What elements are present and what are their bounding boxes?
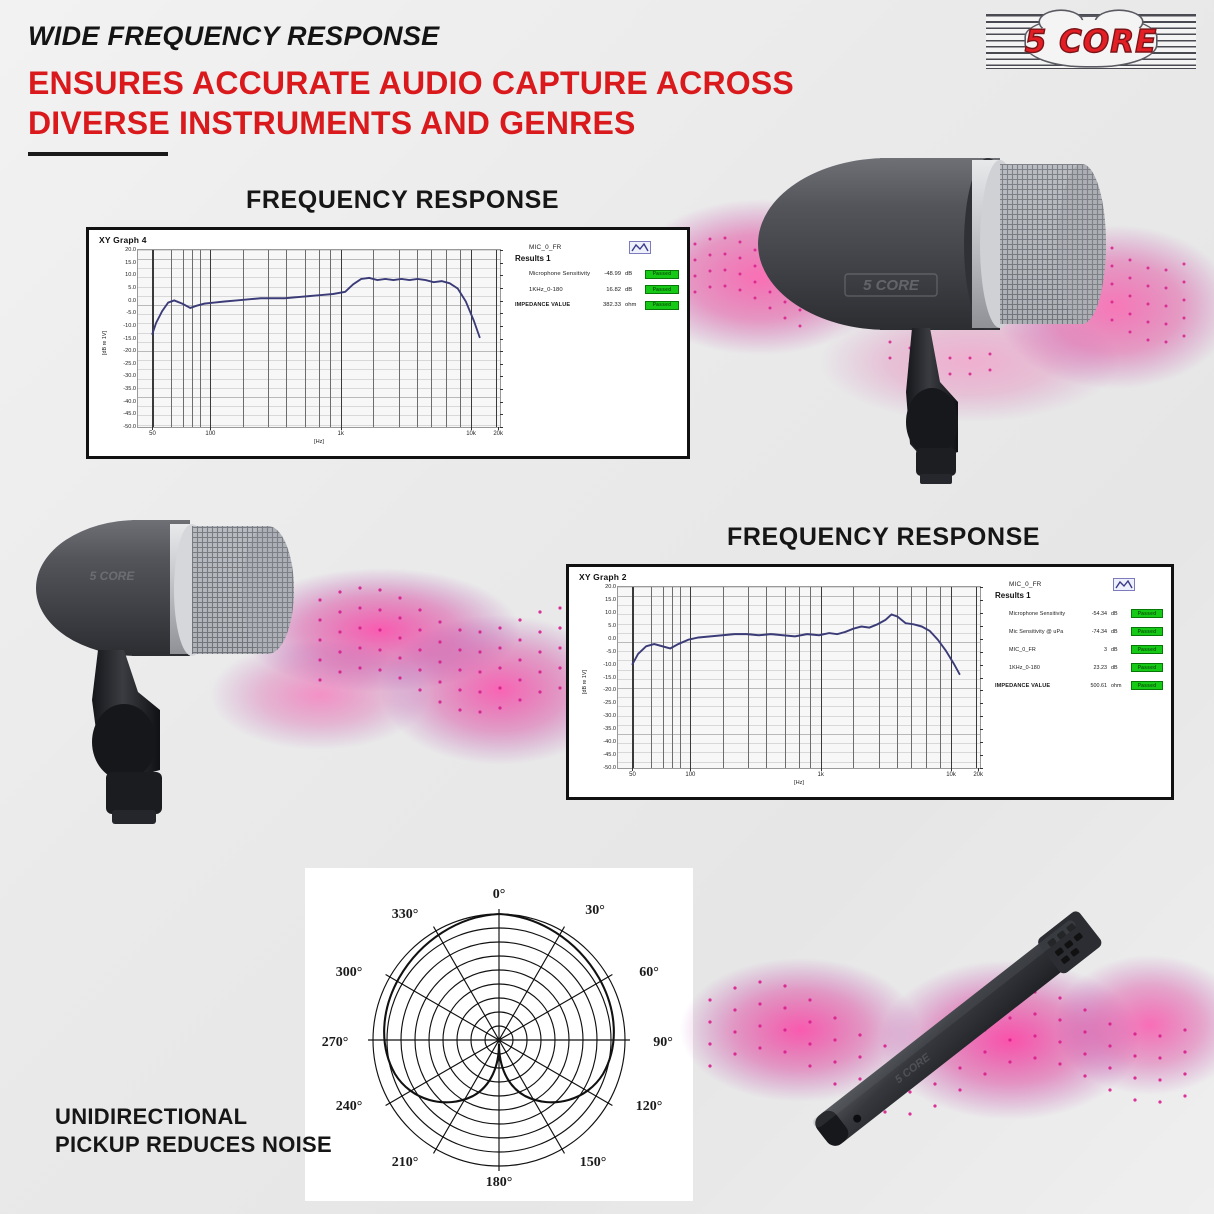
y-tick-1-10: -30.0 (123, 373, 136, 379)
waveform-icon (1113, 578, 1135, 591)
result-row: IMPEDANCE VALUE 500.61 ohm Passed (995, 681, 1163, 690)
drum-microphone-image-top: 5 CORE (640, 92, 1214, 502)
section-heading-frequency-response-2: FREQUENCY RESPONSE (727, 523, 1040, 552)
result-label: MIC_0_FR (995, 647, 1077, 653)
y-tick-2-8: -20.0 (603, 687, 616, 693)
status-badge: Passed (1131, 645, 1163, 654)
result-unit: dB (1107, 629, 1131, 635)
polar-label-0: 0° (493, 887, 506, 902)
y-tick-1-5: -5.0 (126, 310, 136, 316)
chart-plot-area-1: XY Graph 4 [dB re 1V] (89, 230, 509, 456)
embossed-brand-logo: 5 CORE (90, 569, 136, 583)
y-tick-2-5: -5.0 (606, 649, 616, 655)
polar-label-30: 30° (585, 903, 605, 918)
chart-title-1: XY Graph 4 (99, 235, 147, 245)
y-tick-1-12: -40.0 (123, 399, 136, 405)
y-axis-title-1: [dB re 1V] (102, 331, 108, 355)
x-axis-title-2: [Hz] (794, 780, 804, 786)
x-tick-2-1: 100 (685, 772, 695, 778)
results-panel-2: MIC_0_FR Results 1 Microphone Sensitivit… (989, 567, 1171, 797)
result-unit: dB (621, 271, 645, 277)
waveform-icon (629, 241, 651, 254)
frequency-trace-1 (138, 250, 500, 427)
polar-label-60: 60° (639, 965, 659, 980)
status-badge: Passed (645, 301, 679, 310)
result-value: 500.61 (1077, 683, 1107, 689)
x-tick-1-1: 100 (205, 431, 215, 437)
result-value: -74.34 (1077, 629, 1107, 635)
result-unit: ohm (1107, 683, 1131, 689)
y-tick-1-7: -15.0 (123, 336, 136, 342)
result-label: Microphone Sensitivity (515, 271, 591, 277)
y-tick-1-2: 10.0 (125, 272, 136, 278)
drum-microphone-image-left: 5 CORE (20, 480, 620, 870)
pencil-condenser-microphone-image: 5 CORE (680, 860, 1214, 1214)
result-label: Mic Sensitivity @ uPa (995, 629, 1077, 635)
result-value: 23.23 (1077, 665, 1107, 671)
x-tick-2-2: 1k (818, 772, 824, 778)
y-tick-1-9: -25.0 (123, 361, 136, 367)
y-tick-2-4: 0.0 (608, 636, 616, 642)
result-unit: dB (1107, 665, 1131, 671)
result-label: IMPEDANCE VALUE (515, 302, 591, 308)
svg-text:5 CORE: 5 CORE (90, 569, 136, 583)
result-unit: dB (1107, 647, 1131, 653)
logo-text: 5 CORE (986, 14, 1196, 69)
y-tick-2-10: -30.0 (603, 713, 616, 719)
y-tick-1-3: 5.0 (128, 285, 136, 291)
result-row: 1KHz_0-180 23.23 dB Passed (995, 663, 1163, 672)
results-mic-label-2: MIC_0_FR (1009, 581, 1163, 588)
x-tick-2-0: 50 (629, 772, 636, 778)
y-tick-1-13: -45.0 (123, 411, 136, 417)
status-badge: Passed (1131, 681, 1163, 690)
caption-line-1: UNIDIRECTIONAL (55, 1103, 355, 1131)
frequency-trace-2 (618, 587, 980, 768)
result-unit: ohm (621, 302, 645, 308)
y-tick-2-0: 20.0 (605, 584, 616, 590)
result-row: Microphone Sensitivity -48.99 dB Passed (515, 270, 679, 279)
plot-2: 20.0 15.0 10.0 5.0 0.0 -5.0 -10.0 -15.0 … (617, 586, 981, 769)
header-underline-rule (28, 152, 168, 156)
result-value: -48.99 (591, 271, 621, 277)
polar-label-90: 90° (653, 1035, 673, 1050)
status-badge: Passed (1131, 627, 1163, 636)
x-tick-2-4: 20k (973, 772, 983, 778)
polar-label-300: 300° (336, 965, 363, 980)
plot-1: 20.0 15.0 10.0 5.0 0.0 -5.0 -10.0 -15.0 … (137, 249, 501, 428)
result-label: 1KHz_0-180 (995, 665, 1077, 671)
y-tick-1-8: -20.0 (123, 348, 136, 354)
result-value: 16.82 (591, 287, 621, 293)
results-title-2: Results 1 (995, 591, 1163, 600)
svg-text:5 CORE: 5 CORE (863, 277, 920, 294)
section-heading-frequency-response-1: FREQUENCY RESPONSE (246, 186, 559, 215)
y-tick-2-9: -25.0 (603, 700, 616, 706)
y-tick-1-4: 0.0 (128, 298, 136, 304)
result-value: -54.34 (1077, 611, 1107, 617)
y-tick-2-2: 10.0 (605, 610, 616, 616)
polar-label-330: 330° (392, 907, 419, 922)
results-mic-label-1: MIC_0_FR (529, 244, 679, 251)
results-title-1: Results 1 (515, 254, 679, 263)
result-row: MIC_0_FR 3 dB Passed (995, 645, 1163, 654)
polar-pattern-diagram: 0° 30° 60° 90° 120° 150° 180° 210° 240° … (305, 868, 693, 1201)
y-axis-title-2: [dB re 1V] (582, 670, 588, 694)
y-tick-2-11: -35.0 (603, 726, 616, 732)
kicker-text: WIDE FREQUENCY RESPONSE (28, 22, 888, 52)
y-tick-1-6: -10.0 (123, 323, 136, 329)
y-tick-2-7: -15.0 (603, 675, 616, 681)
y-tick-1-0: 20.0 (125, 247, 136, 253)
result-value: 382.33 (591, 302, 621, 308)
polar-label-120: 120° (636, 1099, 663, 1114)
frequency-response-chart-card-2: XY Graph 2 [dB re 1V] (566, 564, 1174, 800)
chart-title-2: XY Graph 2 (579, 572, 627, 582)
status-badge: Passed (645, 285, 679, 294)
x-axis-title-1: [Hz] (314, 439, 324, 445)
y-tick-2-13: -45.0 (603, 752, 616, 758)
x-tick-1-2: 1k (338, 431, 344, 437)
result-unit: dB (1107, 611, 1131, 617)
y-tick-1-1: 15.0 (125, 260, 136, 266)
y-tick-2-1: 15.0 (605, 597, 616, 603)
y-tick-2-3: 5.0 (608, 623, 616, 629)
status-badge: Passed (1131, 609, 1163, 618)
polar-label-180: 180° (486, 1175, 513, 1190)
result-row: Mic Sensitivity @ uPa -74.34 dB Passed (995, 627, 1163, 636)
result-row: 1KHz_0-180 16.82 dB Passed (515, 285, 679, 294)
x-tick-1-0: 50 (149, 431, 156, 437)
polar-label-210: 210° (392, 1155, 419, 1170)
polar-label-150: 150° (580, 1155, 607, 1170)
result-unit: dB (621, 287, 645, 293)
result-label: 1KHz_0-180 (515, 287, 591, 293)
status-badge: Passed (645, 270, 679, 279)
frequency-response-chart-card-1: XY Graph 4 [dB re 1V] (86, 227, 690, 459)
result-label: IMPEDANCE VALUE (995, 683, 1077, 689)
unidirectional-caption: UNIDIRECTIONAL PICKUP REDUCES NOISE (55, 1103, 355, 1158)
result-value: 3 (1077, 647, 1107, 653)
result-row: IMPEDANCE VALUE 382.33 ohm Passed (515, 301, 679, 310)
caption-line-2: PICKUP REDUCES NOISE (55, 1131, 355, 1159)
polar-label-270: 270° (322, 1035, 349, 1050)
results-panel-1: MIC_0_FR Results 1 Microphone Sensitivit… (509, 230, 687, 456)
y-tick-2-6: -10.0 (603, 662, 616, 668)
y-tick-1-14: -50.0 (123, 424, 136, 430)
x-tick-1-4: 20k (493, 431, 503, 437)
y-tick-2-12: -40.0 (603, 739, 616, 745)
y-tick-2-14: -50.0 (603, 765, 616, 771)
result-label: Microphone Sensitivity (995, 611, 1077, 617)
y-tick-1-11: -35.0 (123, 386, 136, 392)
x-tick-1-3: 10k (466, 431, 476, 437)
status-badge: Passed (1131, 663, 1163, 672)
chart-plot-area-2: XY Graph 2 [dB re 1V] (569, 567, 989, 797)
x-tick-2-3: 10k (946, 772, 956, 778)
brand-logo: 5 CORE (986, 14, 1196, 69)
result-row: Microphone Sensitivity -54.34 dB Passed (995, 609, 1163, 618)
